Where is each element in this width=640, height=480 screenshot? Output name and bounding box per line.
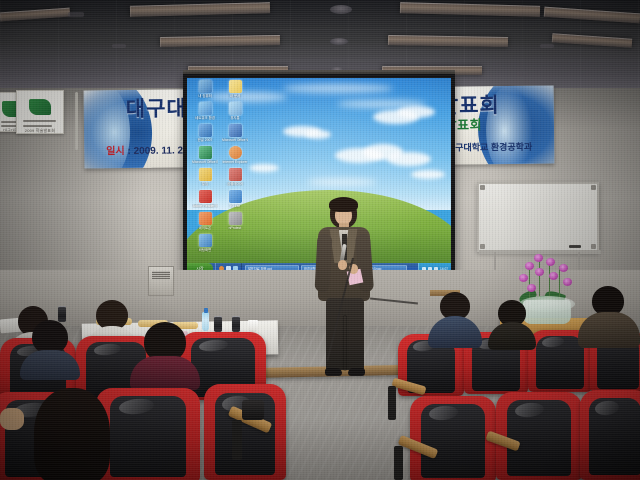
attendee: [130, 322, 200, 384]
speaker-grill: [152, 271, 170, 279]
alzip-icon: [199, 168, 212, 181]
ceiling-light-fixture: [388, 35, 508, 47]
seat-armrest-post: [232, 420, 242, 460]
orchid-bloom: [534, 254, 543, 262]
nateon-icon: [199, 212, 212, 225]
wall-poster-2: 2009 학술발표회: [16, 90, 64, 134]
cloud-icon: [397, 106, 435, 118]
desktop-icon[interactable]: Adobe Reader 9: [192, 190, 218, 208]
cloud-icon: [305, 130, 331, 139]
ceiling-vent: [330, 5, 352, 14]
desktop-icon-label: Microsoft Office Word: [222, 138, 248, 142]
cloud-icon: [249, 164, 279, 172]
nprotect-icon: [229, 212, 242, 225]
attendee: [16, 388, 120, 480]
ms-word-icon: [229, 124, 242, 137]
cloud-icon: [283, 84, 393, 93]
auditorium-seat[interactable]: [496, 392, 582, 480]
orchid-bloom: [519, 274, 528, 282]
orchid-bloom: [546, 258, 555, 266]
banner-title: 대구대: [126, 92, 187, 123]
whiteboard-corner: [591, 185, 596, 190]
adobe-reader-icon: [199, 190, 212, 203]
orchid-bloom: [549, 272, 558, 280]
desktop-icon[interactable]: 내 문서: [222, 80, 248, 98]
orchid-stem: [539, 256, 540, 298]
seat-armrest-post: [394, 446, 403, 480]
desktop-icon[interactable]: 한글 2007: [192, 124, 218, 142]
whiteboard-corner: [480, 185, 485, 190]
camera-on-armrest: [242, 400, 264, 420]
desktop-icon-label: Adobe Reader 9: [192, 204, 218, 208]
orchid-bloom: [535, 268, 544, 276]
my-documents-icon: [229, 80, 242, 93]
paper-cup: [248, 320, 258, 332]
whiteboard-corner: [591, 244, 596, 249]
whiteboard-corner: [480, 244, 485, 249]
presenter-shoe-right: [348, 368, 365, 376]
orchid-bloom: [559, 264, 568, 272]
gom-player-icon: [229, 168, 242, 181]
desktop-icon-label: 네트워크 환경: [192, 116, 218, 120]
desktop-icon[interactable]: 네이트온: [192, 212, 218, 230]
presenter-leg-separation: [344, 316, 346, 370]
attendee: [20, 320, 80, 374]
seat-armrest-post: [388, 386, 396, 420]
presenter-arm-left: [314, 234, 332, 293]
cloud-icon: [411, 170, 445, 179]
cloud-icon: [307, 178, 377, 186]
presenter-hair: [329, 197, 358, 212]
desktop-icon-label: 내 문서: [222, 94, 248, 98]
desktop-icon[interactable]: nProtect: [222, 212, 248, 230]
ceiling-speaker: [112, 44, 126, 48]
attendee-hand: [0, 408, 26, 434]
soda-can: [232, 316, 240, 332]
desktop-icon-label: 알집: [192, 182, 218, 186]
v3-lite-icon: [229, 190, 242, 203]
orchid-bloom: [563, 278, 572, 286]
whiteboard: [477, 182, 599, 252]
wall-pipe: [75, 92, 78, 150]
desktop-icon[interactable]: 알집: [192, 168, 218, 186]
attendee-head: [32, 320, 68, 354]
orchid-bloom: [525, 262, 534, 270]
desktop-icon-label: 내 컴퓨터: [192, 94, 218, 98]
ceiling-speaker: [540, 44, 554, 48]
desktop-icon-label: 바탕화면: [192, 248, 218, 252]
desktop-icon[interactable]: 휴지통: [222, 102, 248, 120]
recycle-bin-icon: [229, 102, 242, 115]
ms-excel-icon: [199, 146, 212, 159]
presenter-hand-left: [338, 260, 347, 270]
auditorium-photo: 대구대학교 2009 학술발표회 대구대 발표회 대구 발표회 일시 : 200…: [0, 0, 640, 480]
ceiling-speaker: [140, 72, 152, 76]
ceiling-light-fixture: [160, 35, 280, 47]
desktop-icon[interactable]: Internet Explorer: [222, 146, 248, 164]
wall-speaker: [148, 266, 174, 296]
desktop-icon-label: 곰플레이어: [222, 182, 248, 186]
attendee-torso: [578, 312, 640, 348]
desktop-icon-label: Microsoft Office Excel: [192, 160, 218, 164]
network-places-icon: [199, 102, 212, 115]
desktop-icon-label: 네이트온: [192, 226, 218, 230]
internet-explorer-icon: [229, 146, 242, 159]
attendee: [578, 286, 640, 344]
desktop-icon[interactable]: 곰플레이어: [222, 168, 248, 186]
attendee: [424, 292, 484, 344]
soda-can: [214, 316, 222, 332]
cloud-icon: [387, 152, 431, 166]
poster-text: 2009 학술발표회: [17, 128, 63, 134]
attendee-head: [34, 388, 110, 480]
hangul-word-icon: [199, 124, 212, 137]
ceiling-vent: [330, 38, 348, 45]
desktop-icon-label: V3 Lite: [222, 204, 248, 208]
presenter-arm-right: [355, 234, 374, 293]
auditorium-seat[interactable]: [204, 384, 286, 480]
orchid-bloom: [527, 284, 536, 292]
desktop-icon-label: nProtect: [222, 226, 248, 230]
attendee-torso: [428, 316, 482, 348]
desktop-icon[interactable]: 내 컴퓨터: [192, 80, 218, 98]
auditorium-seat[interactable]: [410, 396, 496, 480]
desktop-icon[interactable]: V3 Lite: [222, 190, 248, 208]
desktop-icon-label: 휴지통: [222, 116, 248, 120]
attendee-torso: [20, 350, 80, 380]
desktop-folder-icon: [199, 234, 212, 247]
desktop-icon[interactable]: 바탕화면: [192, 234, 218, 252]
whiteboard-marker: [569, 245, 581, 248]
desktop-icon[interactable]: 네트워크 환경: [192, 102, 218, 120]
desktop-icon[interactable]: Microsoft Office Word: [222, 124, 248, 142]
attendee-hand-shape: [0, 408, 24, 430]
my-computer-icon: [199, 80, 212, 93]
desktop-icon-grid: 내 컴퓨터 내 문서 네트워크 환경 휴지통 한글 2007 Microsoft…: [190, 80, 252, 262]
poster-logo-icon: [29, 99, 51, 115]
attendee-torso: [488, 322, 536, 350]
ceiling-speaker: [516, 72, 528, 76]
ceiling-speaker: [68, 12, 84, 17]
water-bottle: [202, 312, 209, 331]
desktop-icon-label: Internet Explorer: [222, 160, 248, 164]
banner-date-label: 일시: [106, 146, 125, 157]
attendee-torso: [130, 356, 200, 390]
desktop-icon-label: 한글 2007: [192, 138, 218, 142]
auditorium-seat[interactable]: [580, 390, 640, 480]
presenter-shoe-left: [325, 368, 342, 376]
attendee: [486, 300, 538, 346]
desktop-icon[interactable]: Microsoft Office Excel: [192, 146, 218, 164]
